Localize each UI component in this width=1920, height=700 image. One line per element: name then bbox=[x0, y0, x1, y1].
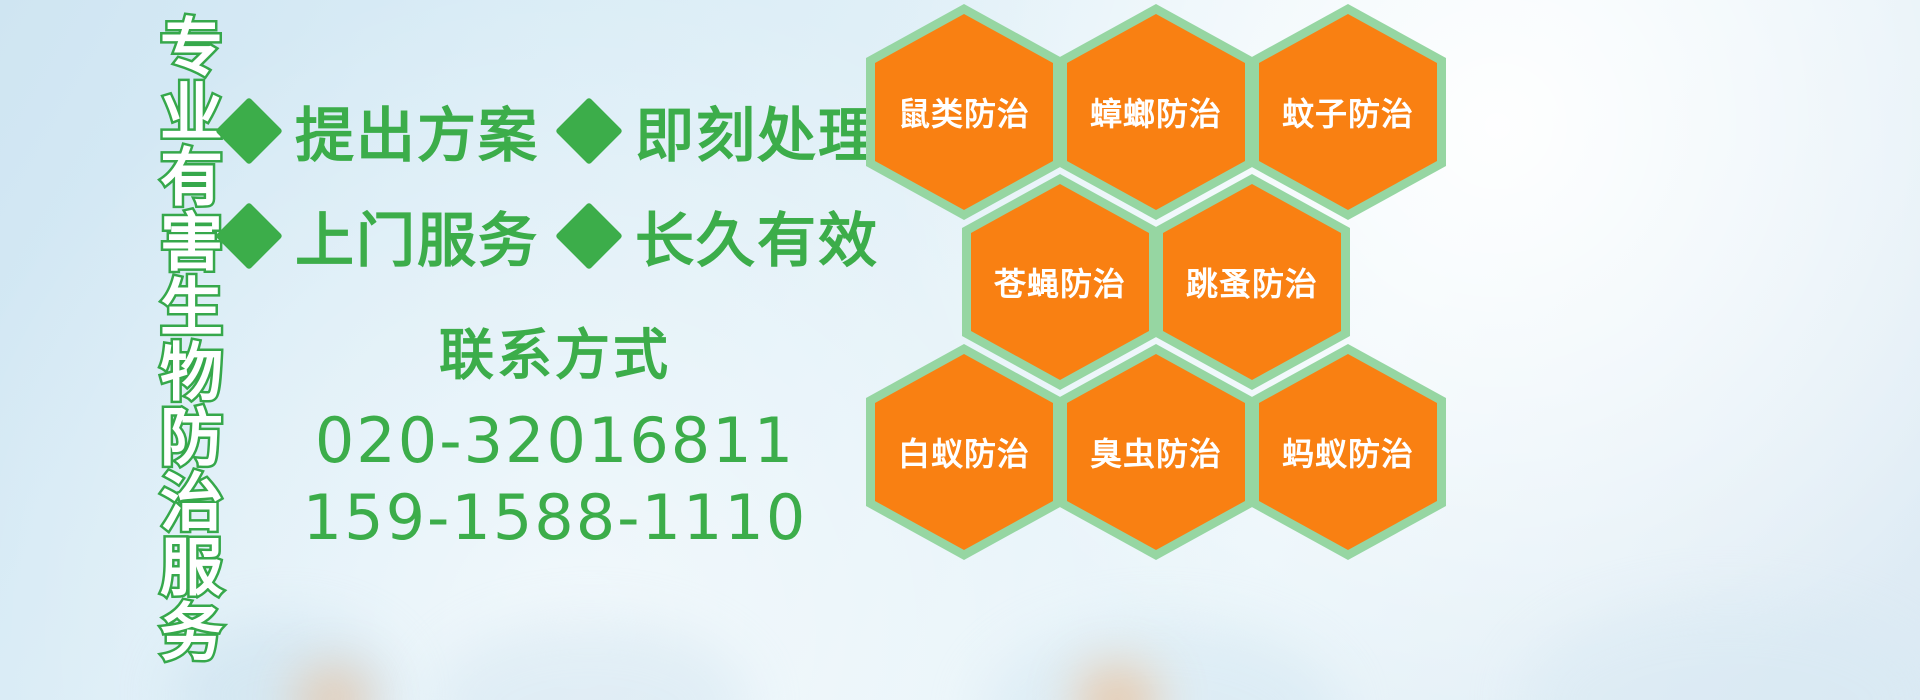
hex-cell-ant[interactable]: 蚂蚁防治 bbox=[1250, 344, 1446, 560]
feature-label: 长久有效 bbox=[635, 193, 879, 278]
pest-control-banner: 专业有害生物防治服务 提出方案 即刻处理 上门服务 长久有效 联系方式 020-… bbox=[0, 0, 1920, 700]
hex-label: 臭虫防治 bbox=[1090, 429, 1222, 475]
hex-label: 白蚁防治 bbox=[898, 429, 1030, 475]
diamond-icon bbox=[215, 97, 283, 165]
feature-label: 即刻处理 bbox=[635, 88, 879, 173]
hex-cell-fly[interactable]: 苍蝇防治 bbox=[962, 174, 1158, 390]
hex-label: 蚊子防治 bbox=[1282, 89, 1414, 135]
feature-row: 上门服务 长久有效 bbox=[225, 183, 865, 288]
feature-row: 提出方案 即刻处理 bbox=[225, 78, 865, 183]
feature-list: 提出方案 即刻处理 上门服务 长久有效 bbox=[225, 78, 865, 288]
background-blob bbox=[430, 620, 750, 700]
hex-cell-mosquito[interactable]: 蚊子防治 bbox=[1250, 4, 1446, 220]
phone-number-landline[interactable]: 020-32016811 bbox=[225, 404, 885, 477]
contact-block: 联系方式 020-32016811 159-1588-1110 bbox=[225, 310, 885, 558]
service-honeycomb: 鼠类防治 蟑螂防治 蚊子防治 苍蝇防治 跳蚤防治 白蚁防治 臭虫防治 bbox=[862, 0, 1462, 556]
hex-cell-termite[interactable]: 白蚁防治 bbox=[866, 344, 1062, 560]
phone-number-mobile[interactable]: 159-1588-1110 bbox=[225, 481, 885, 554]
hex-label: 蚂蚁防治 bbox=[1282, 429, 1414, 475]
diamond-icon bbox=[555, 202, 623, 270]
hex-label: 跳蚤防治 bbox=[1186, 259, 1318, 305]
feature-label: 上门服务 bbox=[295, 193, 539, 278]
diamond-icon bbox=[555, 97, 623, 165]
vertical-headline: 专业有害生物防治服务 bbox=[108, 14, 218, 574]
hex-label: 鼠类防治 bbox=[898, 89, 1030, 135]
hex-cell-flea[interactable]: 跳蚤防治 bbox=[1154, 174, 1350, 390]
contact-title: 联系方式 bbox=[225, 310, 885, 390]
hex-cell-rodent[interactable]: 鼠类防治 bbox=[866, 4, 1062, 220]
background-blob bbox=[1520, 600, 1920, 700]
diamond-icon bbox=[215, 202, 283, 270]
hex-label: 蟑螂防治 bbox=[1090, 89, 1222, 135]
background-blob bbox=[980, 620, 1340, 700]
hex-cell-cockroach[interactable]: 蟑螂防治 bbox=[1058, 4, 1254, 220]
feature-label: 提出方案 bbox=[295, 88, 539, 173]
hex-label: 苍蝇防治 bbox=[994, 259, 1126, 305]
hex-cell-bedbug[interactable]: 臭虫防治 bbox=[1058, 344, 1254, 560]
